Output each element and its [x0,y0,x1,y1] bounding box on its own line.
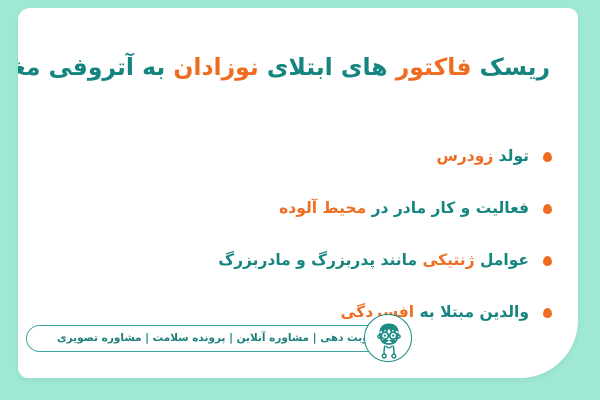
services-pill[interactable]: نوبت دهی | مشاوره آنلاین | پرونده سلامت … [26,325,388,352]
bullet-0-segment-1: زودرس [436,147,493,165]
bullet-dot-icon [543,308,552,318]
title-segment-1: فاکتور [388,53,472,81]
bullet-dot-icon [543,256,552,266]
services-label: نوبت دهی | مشاوره آنلاین | پرونده سلامت … [57,332,373,344]
footer-bar: نوبت دهی | مشاوره آنلاین | پرونده سلامت … [26,314,412,362]
bullet-1-segment-0: فعالیت و کار مادر در [366,199,529,217]
list-item-label: عوامل ژنتیکی مانند پدربزرگ و مادربزرگ [218,250,529,270]
doctor-face-icon[interactable] [364,314,412,362]
title-segment-3: نوزادان [165,53,259,81]
list-item-label: فعالیت و کار مادر در محیط آلوده [279,198,529,218]
bullet-2-segment-0: عوامل [475,251,529,269]
title-segment-0: ریسک [471,53,550,81]
bullet-dot-icon [543,204,552,214]
bullet-2-segment-1: ژنتیکی [417,251,475,269]
bullet-3-segment-0: والدین مبتلا به [414,303,529,321]
risk-factor-list: تولد زودرسفعالیت و کار مادر در محیط آلود… [52,130,552,338]
bullet-1-segment-1: محیط آلوده [279,199,366,217]
infographic-canvas: ریسک فاکتور های ابتلای نوزادان به آتروفی… [0,0,600,400]
list-item: فعالیت و کار مادر در محیط آلوده [52,182,552,234]
list-item: عوامل ژنتیکی مانند پدربزرگ و مادربزرگ [52,234,552,286]
page-title: ریسک فاکتور های ابتلای نوزادان به آتروفی… [46,52,550,84]
title-segment-2: های ابتلای [259,53,388,81]
bullet-2-segment-2: مانند پدربزرگ و مادربزرگ [218,251,417,269]
list-item: تولد زودرس [52,130,552,182]
content-card: ریسک فاکتور های ابتلای نوزادان به آتروفی… [18,8,578,378]
bullet-0-segment-0: تولد [493,147,529,165]
title-segment-4: به آتروفی مغزی [18,53,165,81]
bullet-dot-icon [543,152,552,162]
list-item-label: تولد زودرس [436,146,529,166]
